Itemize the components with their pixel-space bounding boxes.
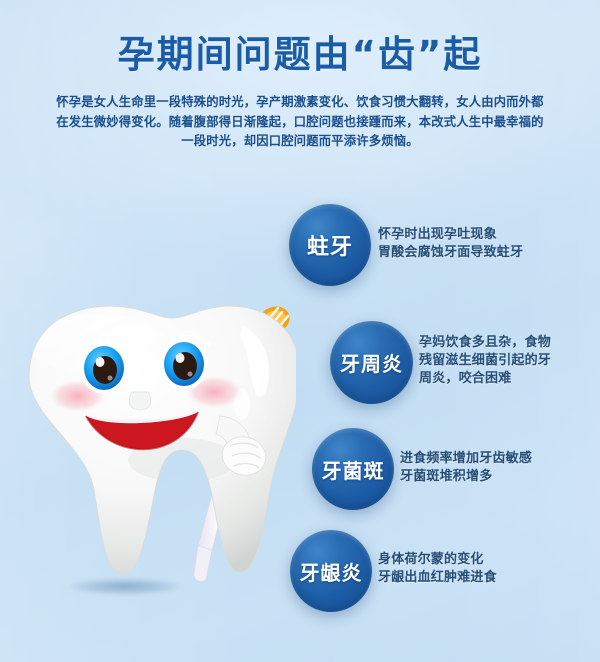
issue-description-4-line-1: 身体荷尔蒙的变化 <box>378 551 588 569</box>
issue-badge-3[interactable]: 牙菌斑 <box>312 428 394 510</box>
issue-description-2-line-2: 残留滋生细菌引起的牙 <box>419 352 594 370</box>
nose <box>129 392 151 410</box>
intro-line-3: 一段时光，却因口腔问题而平添许多烦恼。 <box>38 132 562 152</box>
intro-line-1: 怀孕是女人生命里一段特殊的时光，孕产期激素变化、饮食习惯大翻转，女人由内而外都 <box>38 93 562 113</box>
issue-badge-label-3: 牙菌斑 <box>322 455 385 484</box>
issue-description-2-line-1: 孕妈饮食多且杂，食物 <box>419 334 594 352</box>
issue-badge-2[interactable]: 牙周炎 <box>330 321 413 404</box>
issue-description-3: 进食频率增加牙齿敏感 牙菌斑堆积增多 <box>400 450 600 486</box>
issue-description-2: 孕妈饮食多且杂，食物 残留滋生细菌引起的牙 周炎，咬合困难 <box>419 334 594 388</box>
issue-badge-label-4: 牙龈炎 <box>300 557 363 586</box>
issue-badge-label-2: 牙周炎 <box>340 348 403 377</box>
intro-line-2: 在发生微妙得变化。随着腹部得日渐隆起，口腔问题也接踵而来，本改式人生中最幸福的 <box>38 113 562 133</box>
issue-badge-1[interactable]: 蛀牙 <box>289 204 371 286</box>
issue-description-1: 怀孕时出现孕吐现象 胃酸会腐蚀牙面导致蛀牙 <box>378 226 593 262</box>
issue-badge-4[interactable]: 牙龈炎 <box>290 530 372 612</box>
issue-description-2-line-3: 周炎，咬合困难 <box>419 370 594 388</box>
tooth-mascot <box>6 300 296 610</box>
mascot-shadow <box>70 578 180 595</box>
intro-paragraph: 怀孕是女人生命里一段特殊的时光，孕产期激素变化、饮食习惯大翻转，女人由内而外都 … <box>38 93 562 152</box>
poster-root: 孕期间问题由“齿”起 怀孕是女人生命里一段特殊的时光，孕产期激素变化、饮食习惯大… <box>0 0 600 662</box>
issue-description-3-line-2: 牙菌斑堆积增多 <box>400 468 600 486</box>
issue-description-1-line-1: 怀孕时出现孕吐现象 <box>378 226 593 244</box>
issue-description-3-line-1: 进食频率增加牙齿敏感 <box>400 450 600 468</box>
issue-description-4-line-2: 牙龈出血红肿难进食 <box>378 569 588 587</box>
issue-badge-label-1: 蛀牙 <box>307 229 353 261</box>
page-title: 孕期间问题由“齿”起 <box>0 32 600 78</box>
issue-description-1-line-2: 胃酸会腐蚀牙面导致蛀牙 <box>378 244 593 262</box>
issue-description-4: 身体荷尔蒙的变化 牙龈出血红肿难进食 <box>378 551 588 587</box>
